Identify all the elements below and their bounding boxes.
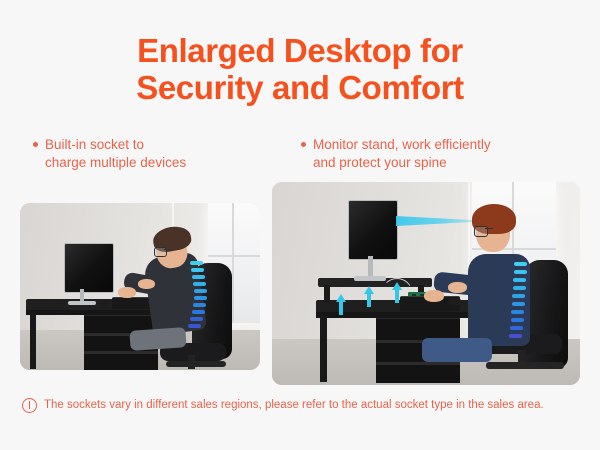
mouse bbox=[448, 298, 462, 306]
monitor-neck bbox=[368, 256, 373, 278]
feature-bullet-socket-line-1: Built-in socket to bbox=[45, 136, 275, 154]
person-leg bbox=[422, 338, 492, 362]
bullet-dot-icon bbox=[33, 142, 38, 147]
monitor-base bbox=[68, 301, 96, 305]
mouse bbox=[98, 301, 110, 308]
vertebra bbox=[511, 310, 524, 314]
scene-upright bbox=[272, 182, 580, 385]
desk-leg bbox=[30, 313, 36, 369]
vertebra bbox=[513, 286, 526, 290]
person-hand bbox=[118, 287, 136, 298]
lift-arrow-icon bbox=[336, 294, 346, 315]
hunched-posture-photo bbox=[20, 203, 260, 370]
feature-bullet-monitor-stand-line-2: and protect your spine bbox=[313, 154, 578, 172]
feature-bullet-socket-line-2: charge multiple devices bbox=[45, 154, 275, 172]
page-title-line-2: Security and Comfort bbox=[0, 69, 600, 106]
page-title: Enlarged Desktop for Security and Comfor… bbox=[0, 32, 600, 106]
spine-overlay-curved bbox=[188, 259, 210, 337]
vertebra bbox=[513, 278, 526, 282]
vertebra bbox=[192, 310, 205, 314]
arrow-shaft bbox=[395, 289, 399, 303]
person-hand bbox=[448, 282, 467, 293]
vertebra bbox=[512, 302, 525, 306]
vertebra bbox=[188, 324, 201, 328]
desk-drawer-line bbox=[376, 362, 460, 365]
office-chair-base bbox=[486, 362, 564, 369]
desk-leg bbox=[320, 316, 327, 382]
vertebra bbox=[514, 270, 527, 274]
person-leg bbox=[129, 327, 186, 351]
upright-posture-photo bbox=[272, 182, 580, 385]
vertebra bbox=[514, 262, 527, 266]
footer-disclaimer: The sockets vary in different sales regi… bbox=[22, 398, 582, 413]
scene-hunched bbox=[20, 203, 260, 370]
spine-overlay-straight bbox=[508, 260, 528, 346]
page-title-line-1: Enlarged Desktop for bbox=[0, 32, 600, 69]
person-hand bbox=[424, 290, 444, 302]
vertebra bbox=[194, 296, 207, 300]
vertebra bbox=[191, 268, 204, 272]
footer-disclaimer-text: The sockets vary in different sales regi… bbox=[44, 398, 544, 413]
bullet-dot-icon bbox=[301, 142, 306, 147]
monitor-screen bbox=[64, 243, 114, 293]
vertebra bbox=[510, 326, 523, 330]
desk-drawer-line bbox=[84, 351, 158, 354]
feature-bullet-socket: Built-in socket to charge multiple devic… bbox=[45, 136, 275, 172]
vertebra bbox=[194, 289, 207, 293]
vertebra bbox=[192, 275, 205, 279]
vertebra bbox=[190, 317, 203, 321]
vertebra bbox=[509, 334, 522, 338]
feature-bullet-monitor-stand-line-1: Monitor stand, work efficiently bbox=[313, 136, 578, 154]
vertebra bbox=[512, 294, 525, 298]
window-mullion bbox=[208, 255, 260, 257]
lift-arrow-icon bbox=[392, 282, 402, 303]
arrow-shaft bbox=[339, 301, 343, 315]
lift-arrow-icon bbox=[364, 286, 374, 307]
feature-bullet-monitor-stand: Monitor stand, work efficiently and prot… bbox=[313, 136, 578, 172]
eyeglasses-bridge bbox=[164, 249, 172, 250]
vertebra bbox=[190, 261, 203, 265]
monitor-base bbox=[354, 276, 386, 281]
person-hand bbox=[138, 279, 155, 289]
vertebra bbox=[193, 282, 206, 286]
arrow-shaft bbox=[367, 293, 371, 307]
vertebra bbox=[193, 303, 206, 307]
vertebra bbox=[511, 318, 524, 322]
exclamation-circle-icon bbox=[22, 398, 37, 413]
office-chair-base bbox=[166, 361, 226, 367]
window-mullion bbox=[232, 203, 234, 323]
eyeglasses-bridge bbox=[485, 228, 493, 229]
monitor-stand-leg bbox=[324, 285, 330, 303]
monitor-screen bbox=[348, 200, 398, 260]
